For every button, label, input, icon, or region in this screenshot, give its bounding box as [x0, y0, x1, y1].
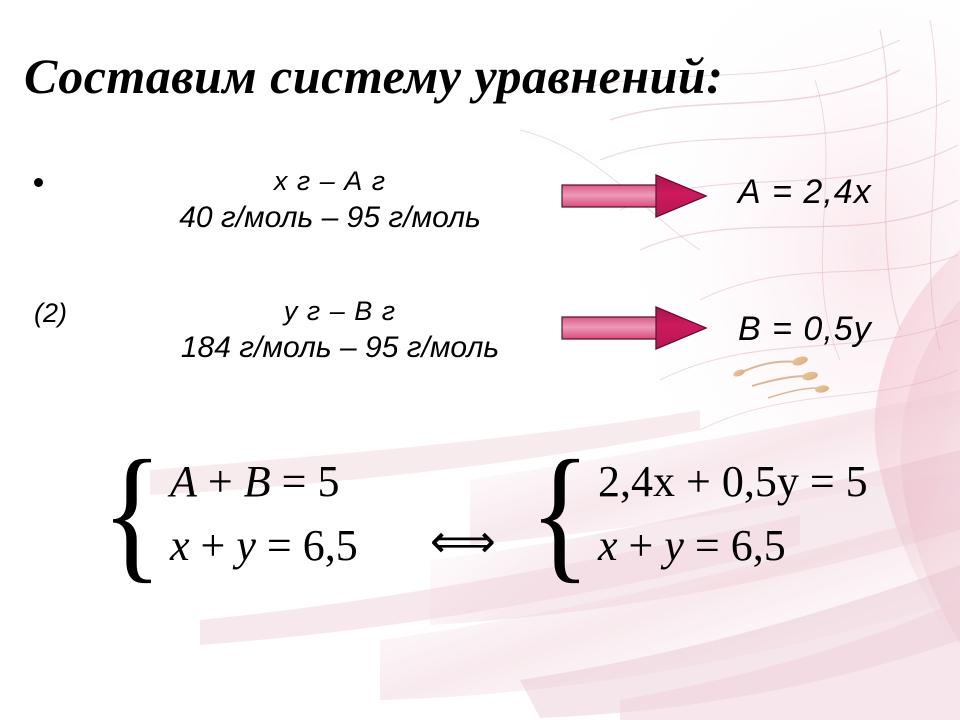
arrow-right-icon-1 — [560, 173, 710, 219]
proportion-1-line-1: х г – А г — [120, 165, 540, 199]
system-1-equations: A + B = 5 x + y = 6,5 — [170, 457, 358, 570]
arrow-right-icon-2 — [560, 305, 710, 351]
proportion-block-2: у г – В г 184 г/моль – 95 г/моль — [120, 295, 560, 366]
proportion-1-line-2: 40 г/моль – 95 г/моль — [120, 199, 540, 237]
equation-system-1: { A + B = 5 x + y = 6,5 — [96, 455, 358, 572]
result-expression-2: В = 0,5у — [738, 310, 872, 349]
system-1-equation-1: A + B = 5 — [170, 457, 358, 506]
result-expression-1: А = 2,4х — [738, 173, 872, 212]
system-2-brace: { — [529, 455, 590, 572]
arrow-right-svg-2 — [560, 305, 710, 351]
proportion-2-marker: (2) — [34, 298, 67, 329]
equivalence-icon: ⟺ — [430, 518, 496, 564]
page-title: Составим систему уравнений: — [24, 50, 944, 103]
arrow-right-svg-1 — [560, 173, 710, 219]
system-2-equation-1: 2,4x + 0,5y = 5 — [598, 457, 868, 506]
proportion-2-line-2: 184 г/моль – 95 г/моль — [120, 329, 560, 367]
equation-system-2: { 2,4x + 0,5y = 5 x + y = 6,5 — [524, 455, 868, 572]
proportion-block-1: х г – А г 40 г/моль – 95 г/моль — [120, 165, 540, 236]
system-1-equation-2: x + y = 6,5 — [170, 521, 358, 570]
system-1-brace: { — [101, 455, 162, 572]
slide-canvas: Составим систему уравнений: х г – А г 40… — [0, 0, 960, 720]
system-2-equation-2: x + y = 6,5 — [598, 521, 868, 570]
proportion-2-line-1: у г – В г — [120, 295, 560, 329]
system-2-equations: 2,4x + 0,5y = 5 x + y = 6,5 — [598, 457, 868, 570]
lily-stamens — [742, 361, 818, 398]
bullet-icon — [34, 178, 43, 187]
